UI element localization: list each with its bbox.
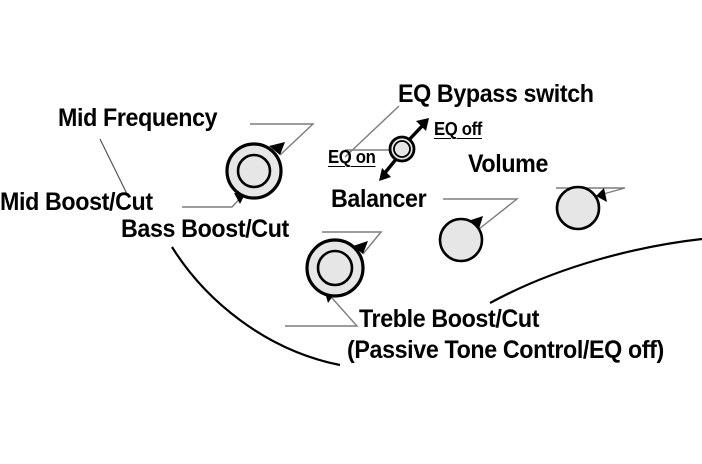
label-eq-on: EQ on xyxy=(328,148,375,167)
switch-arrow-eq-on xyxy=(379,158,397,181)
leader-mid-boost-cut xyxy=(182,192,246,207)
label-volume: Volume xyxy=(468,151,548,177)
label-eq-bypass-switch: EQ Bypass switch xyxy=(398,81,594,107)
bass-treble-stack-knob[interactable] xyxy=(307,240,363,296)
diagram-vector-layer xyxy=(0,0,702,464)
label-treble-boost-cut: Treble Boost/Cut xyxy=(359,306,539,332)
label-balancer: Balancer xyxy=(331,186,426,212)
diagram-canvas: Mid Frequency Mid Boost/Cut Bass Boost/C… xyxy=(0,0,702,464)
switch-arrow-eq-off xyxy=(407,118,429,142)
volume-knob[interactable] xyxy=(557,187,599,229)
mid-stack-knob[interactable] xyxy=(227,144,281,198)
label-mid-boost-cut: Mid Boost/Cut xyxy=(0,189,153,215)
balancer-knob[interactable] xyxy=(440,219,482,261)
eq-bypass-switch[interactable] xyxy=(390,137,414,161)
body-outline-right-curve xyxy=(490,239,702,303)
label-treble-subtitle: (Passive Tone Control/EQ off) xyxy=(347,337,664,363)
label-bass-boost-cut: Bass Boost/Cut xyxy=(121,216,289,242)
label-mid-frequency: Mid Frequency xyxy=(58,105,217,131)
label-eq-off: EQ off xyxy=(434,120,482,139)
